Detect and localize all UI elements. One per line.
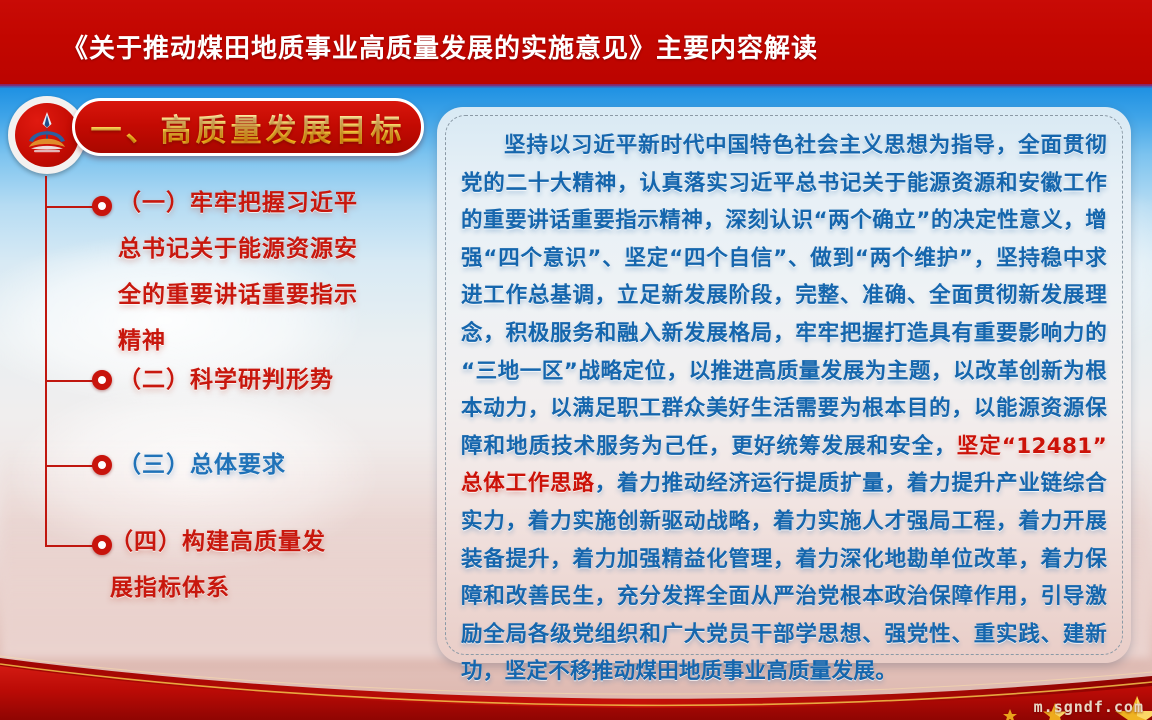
bullet-marker-1[interactable]	[92, 196, 112, 216]
outline-connector-spine	[45, 176, 47, 546]
bullet-marker-3[interactable]	[92, 455, 112, 475]
slide-canvas: 《关于推动煤田地质事业高质量发展的实施意见》主要内容解读 一、高质量发展目标 （…	[0, 0, 1152, 720]
content-panel: 坚持以习近平新时代中国特色社会主义思想为指导，全面贯彻党的二十大精神，认真落实习…	[437, 107, 1131, 663]
outline-item-2[interactable]: （二）科学研判形势	[118, 357, 418, 403]
content-paragraph-part1: 坚持以习近平新时代中国特色社会主义思想为指导，全面贯彻党的二十大精神，认真落实习…	[461, 133, 1107, 459]
header-bottom-edge	[0, 84, 1152, 88]
outline-item-4[interactable]: （四）构建高质量发 展指标体系	[110, 519, 430, 611]
section-title-pill: 一、高质量发展目标	[72, 98, 424, 156]
outline-item-1[interactable]: （一）牢牢把握习近平 总书记关于能源资源安 全的重要讲话重要指示 精神	[118, 180, 418, 364]
outline-item-3[interactable]: （三）总体要求	[118, 442, 418, 488]
watermark-text: m.sgndf.com	[1034, 698, 1144, 716]
page-title: 《关于推动煤田地质事业高质量发展的实施意见》主要内容解读	[62, 28, 818, 65]
bullet-marker-4[interactable]	[92, 535, 112, 555]
coal-geology-emblem-icon	[15, 103, 79, 167]
bullet-marker-2[interactable]	[92, 370, 112, 390]
footer-ribbon: m.sgndf.com	[0, 642, 1152, 720]
section-title-text: 一、高质量发展目标	[91, 105, 406, 150]
content-paragraph: 坚持以习近平新时代中国特色社会主义思想为指导，全面贯彻党的二十大精神，认真落实习…	[461, 127, 1107, 691]
